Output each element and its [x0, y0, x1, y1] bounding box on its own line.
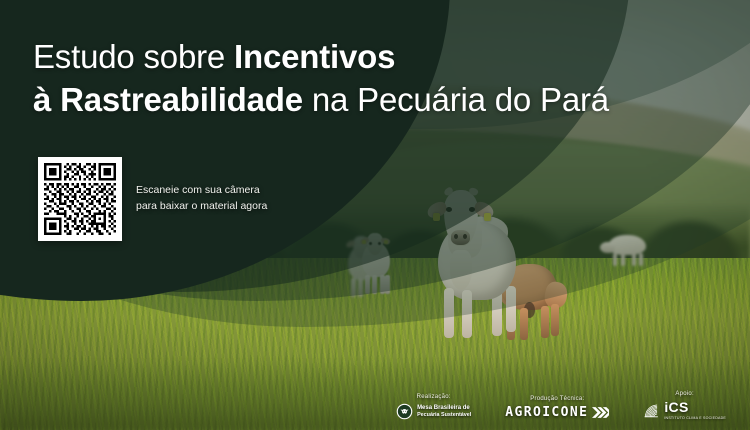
promotional-banner: Estudo sobre Incentivos à Rastreabilidad…: [0, 0, 750, 430]
qr-code-icon[interactable]: [38, 157, 122, 241]
qr-caption: Escaneie com sua câmera para baixar o ma…: [136, 183, 267, 214]
title-line1-normal: Estudo sobre: [33, 38, 234, 75]
agroicone-wordmark: AGROICONE: [505, 405, 588, 420]
credit-producao-tecnica: Produção Técnica: AGROICONE: [505, 396, 609, 420]
title-line2-normal: na Pecuária do Pará: [303, 81, 609, 118]
footer-credits: Realização: Mesa Brasileira de Pecuária …: [0, 391, 750, 420]
credit-name-line-2: Pecuária Sustentável: [417, 412, 471, 418]
title-line-1: Estudo sobre Incentivos: [33, 38, 395, 75]
credit-kicker: Produção Técnica:: [530, 396, 584, 402]
credit-kicker: Realização:: [417, 394, 451, 400]
credit-name-line-1: Mesa Brasileira de: [417, 405, 471, 412]
credit-apoio: Apoio: iCS: [643, 391, 726, 420]
title-line-2: à Rastreabilidade na Pecuária do Pará: [33, 79, 673, 122]
mbps-cow-seal-icon: [396, 403, 413, 420]
title-line1-bold: Incentivos: [234, 38, 395, 75]
credit-kicker: Apoio:: [675, 391, 694, 397]
ics-subtitle: INSTITUTO CLIMA E SOCIEDADE: [664, 416, 726, 420]
qr-call-to-action[interactable]: Escaneie com sua câmera para baixar o ma…: [38, 157, 267, 241]
qr-caption-line-1: Escaneie com sua câmera: [136, 183, 267, 199]
agroicone-chevron-icon: [592, 407, 609, 418]
ics-fan-icon: [643, 402, 660, 419]
qr-caption-line-2: para baixar o material agora: [136, 199, 267, 215]
credit-realizacao: Realização: Mesa Brasileira de Pecuária …: [396, 394, 471, 420]
title-line2-bold: à Rastreabilidade: [33, 81, 303, 118]
page-title: Estudo sobre Incentivos à Rastreabilidad…: [33, 36, 673, 122]
ics-wordmark: iCS: [664, 400, 726, 416]
